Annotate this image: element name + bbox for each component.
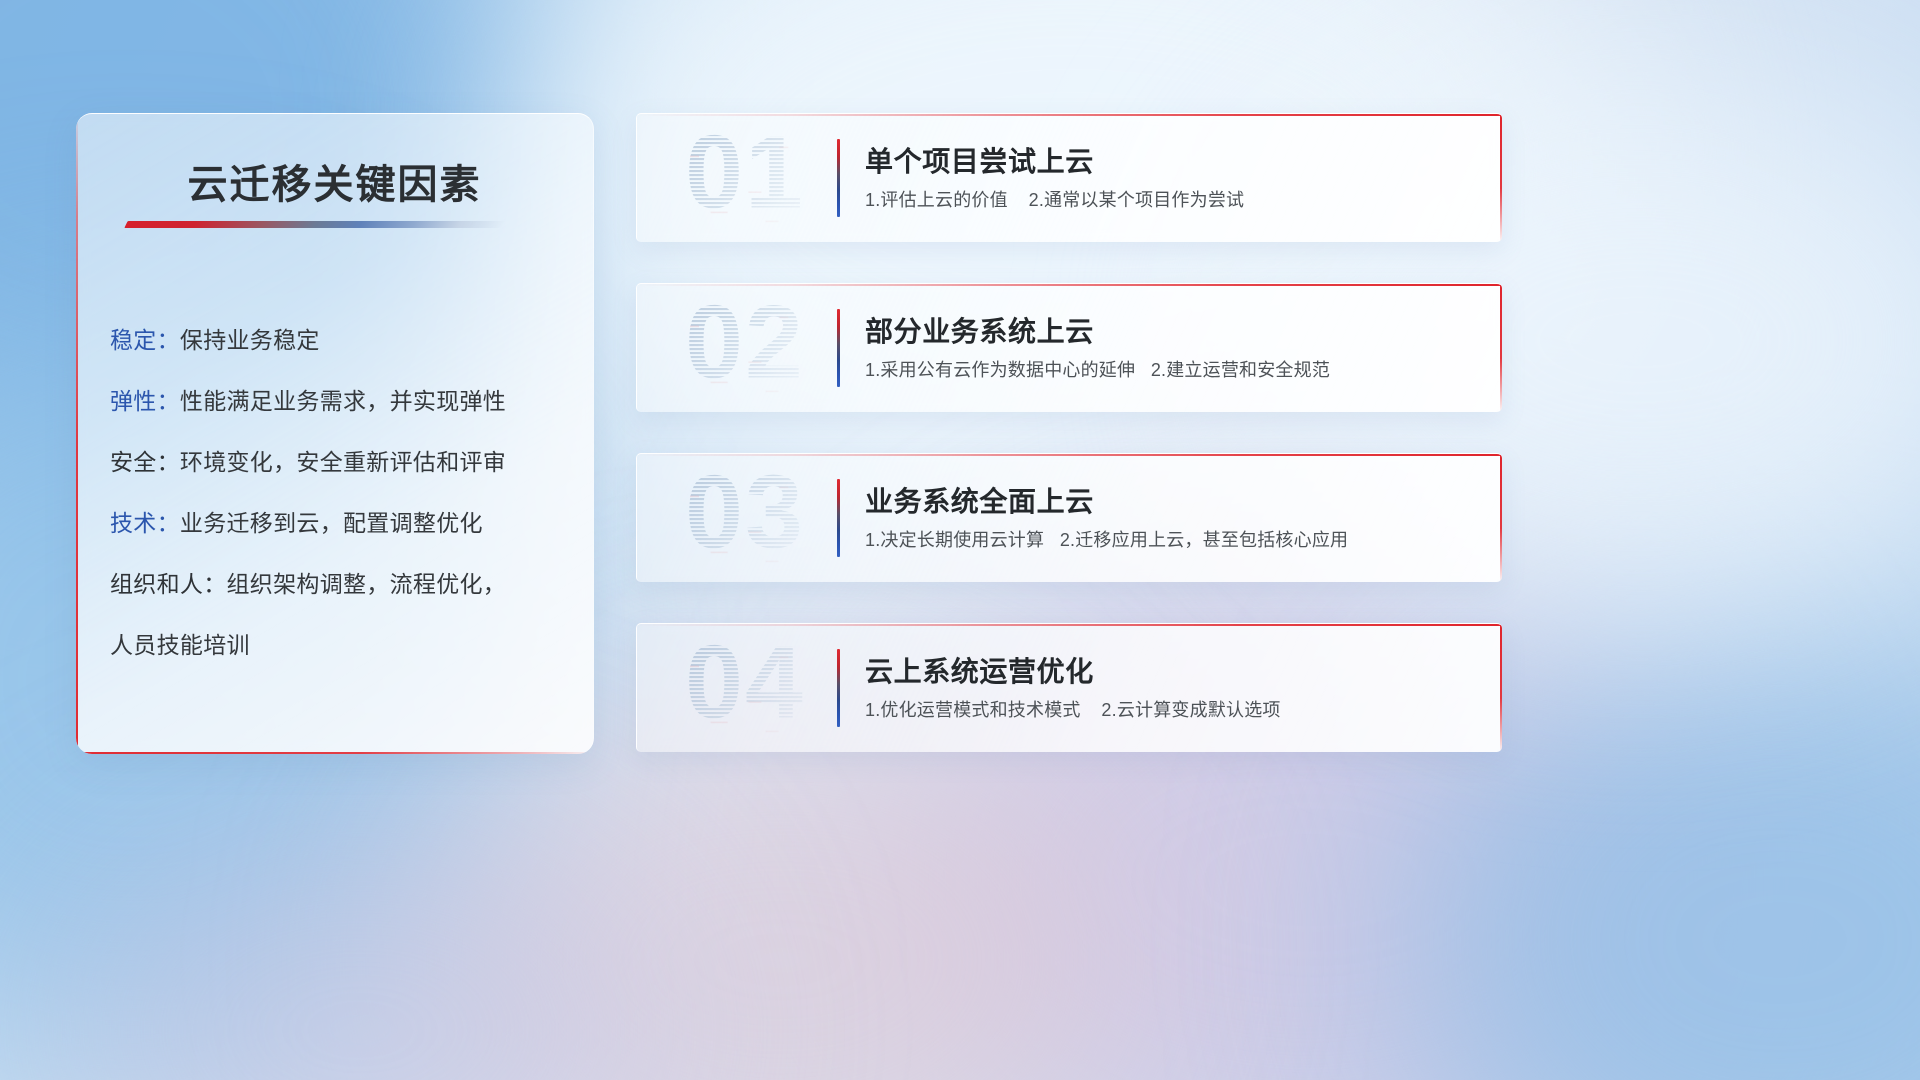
step-divider-accent (837, 649, 840, 727)
factor-row: 技术：业务迁移到云，配置调整优化 (110, 493, 571, 554)
step-title: 云上系统运营优化 (865, 654, 1476, 690)
factor-row: 人员技能培训 (110, 615, 571, 676)
step-subtitle: 1.优化运营模式和技术模式 2.云计算变成默认选项 (865, 699, 1476, 722)
step-body: 部分业务系统上云1.采用公有云作为数据中心的延伸 2.建立运营和安全规范 (865, 314, 1476, 382)
step-body: 云上系统运营优化1.优化运营模式和技术模式 2.云计算变成默认选项 (865, 654, 1476, 722)
step-body: 业务系统全面上云1.决定长期使用云计算 2.迁移应用上云，甚至包括核心应用 (865, 484, 1476, 552)
factor-text: 人员技能培训 (110, 632, 250, 658)
step-subtitle: 1.决定长期使用云计算 2.迁移应用上云，甚至包括核心应用 (865, 529, 1476, 552)
step-divider-accent (837, 479, 840, 557)
factor-row: 组织和人：组织架构调整，流程优化， (110, 554, 571, 615)
step-divider-accent (837, 309, 840, 387)
step-card-01[interactable]: 01单个项目尝试上云1.评估上云的价值 2.通常以某个项目作为尝试 (636, 113, 1502, 242)
step-body: 单个项目尝试上云1.评估上云的价值 2.通常以某个项目作为尝试 (865, 144, 1476, 212)
step-title: 业务系统全面上云 (865, 484, 1476, 520)
svg-text:03: 03 (685, 462, 805, 570)
factor-label: 弹性： (110, 388, 180, 414)
factor-list: 稳定：保持业务稳定弹性：性能满足业务需求，并实现弹性安全：环境变化，安全重新评估… (110, 310, 571, 676)
step-divider-accent (837, 139, 840, 217)
factor-row: 安全：环境变化，安全重新评估和评审 (110, 432, 571, 493)
page-title: 云迁移关键因素 (76, 152, 593, 210)
key-factors-panel: 云迁移关键因素 稳定：保持业务稳定弹性：性能满足业务需求，并实现弹性安全：环境变… (76, 113, 594, 754)
step-number-04: 04 (659, 632, 831, 744)
step-card-02[interactable]: 02部分业务系统上云1.采用公有云作为数据中心的延伸 2.建立运营和安全规范 (636, 283, 1502, 412)
factor-label: 安全： (110, 449, 180, 475)
step-title: 单个项目尝试上云 (865, 144, 1476, 180)
step-subtitle: 1.评估上云的价值 2.通常以某个项目作为尝试 (865, 189, 1476, 212)
factor-text: 业务迁移到云，配置调整优化 (180, 510, 483, 536)
factor-label: 稳定： (110, 327, 180, 353)
svg-text:01: 01 (685, 122, 805, 230)
step-number-02: 02 (659, 292, 831, 404)
step-card-03[interactable]: 03业务系统全面上云1.决定长期使用云计算 2.迁移应用上云，甚至包括核心应用 (636, 453, 1502, 582)
step-title: 部分业务系统上云 (865, 314, 1476, 350)
factor-row: 弹性：性能满足业务需求，并实现弹性 (110, 371, 571, 432)
factor-row: 稳定：保持业务稳定 (110, 310, 571, 371)
title-underline-accent (124, 221, 505, 228)
factor-label: 组织和人： (110, 571, 227, 597)
step-card-04[interactable]: 04云上系统运营优化1.优化运营模式和技术模式 2.云计算变成默认选项 (636, 623, 1502, 752)
factor-label: 技术： (110, 510, 180, 536)
step-number-03: 03 (659, 462, 831, 574)
slide-stage: 云迁移关键因素 稳定：保持业务稳定弹性：性能满足业务需求，并实现弹性安全：环境变… (0, 0, 1920, 1080)
svg-text:02: 02 (685, 292, 805, 400)
svg-text:04: 04 (685, 632, 805, 740)
step-number-01: 01 (659, 122, 831, 234)
factor-text: 性能满足业务需求，并实现弹性 (180, 388, 506, 414)
step-subtitle: 1.采用公有云作为数据中心的延伸 2.建立运营和安全规范 (865, 359, 1476, 382)
factor-text: 环境变化，安全重新评估和评审 (180, 449, 506, 475)
factor-text: 组织架构调整，流程优化， (227, 571, 507, 597)
migration-steps-list: 01单个项目尝试上云1.评估上云的价值 2.通常以某个项目作为尝试02部分业务系… (636, 113, 1502, 752)
factor-text: 保持业务稳定 (180, 327, 320, 353)
